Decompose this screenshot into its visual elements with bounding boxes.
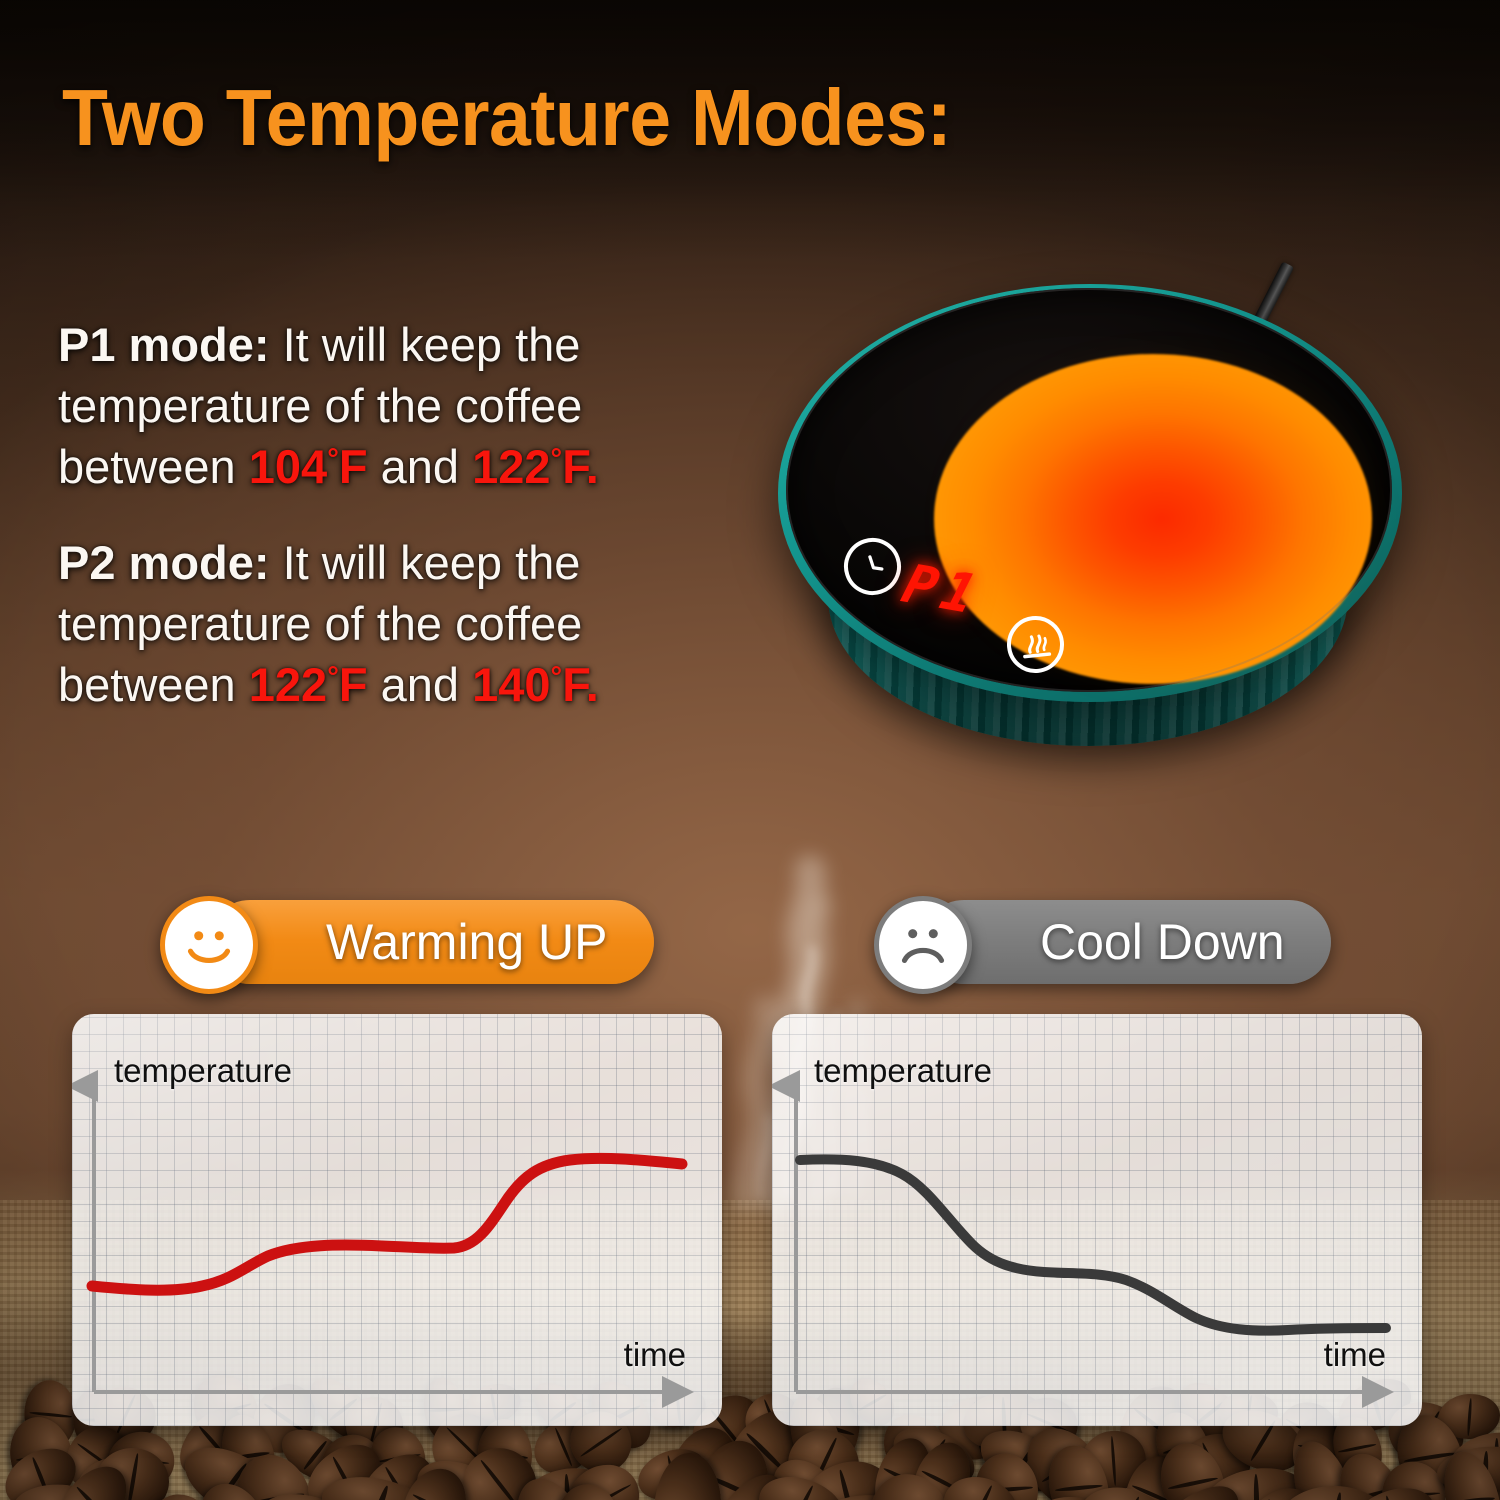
- mode-p2-temp-high: 140°F.: [472, 658, 599, 711]
- cool-down-label: Cool Down: [922, 900, 1331, 984]
- chart-left-ylabel: temperature: [114, 1052, 292, 1090]
- mode-description-p2: P2 mode: It will keep the temperature of…: [58, 532, 678, 715]
- mode-p1-temp-high: 122°F.: [472, 440, 599, 493]
- chart-left-xlabel: time: [624, 1336, 686, 1374]
- smiley-face-icon: [160, 896, 258, 994]
- page-title: Two Temperature Modes:: [62, 78, 951, 158]
- mode-p2-text-middle: and: [368, 658, 473, 711]
- mode-description-p1: P1 mode: It will keep the temperature of…: [58, 314, 678, 497]
- device-glass-ring: [786, 288, 1392, 692]
- warming-up-label: Warming UP: [208, 900, 654, 984]
- chart-warming-up: temperature time: [72, 1014, 722, 1426]
- chart-right-xlabel: time: [1324, 1336, 1386, 1374]
- mug-warmer-device: P1: [724, 258, 1464, 778]
- chart-right-ylabel: temperature: [814, 1052, 992, 1090]
- mode-p2-label: P2 mode:: [58, 536, 270, 589]
- mode-p1-label: P1 mode:: [58, 318, 270, 371]
- chart-cool-down: temperature time: [772, 1014, 1422, 1426]
- sad-face-icon: [874, 896, 972, 994]
- poster-stage: Two Temperature Modes: P1 mode: It will …: [0, 0, 1500, 1500]
- mode-p1-text-middle: and: [368, 440, 473, 493]
- mode-p1-temp-low: 104°F: [249, 440, 368, 493]
- mode-p2-temp-low: 122°F: [249, 658, 368, 711]
